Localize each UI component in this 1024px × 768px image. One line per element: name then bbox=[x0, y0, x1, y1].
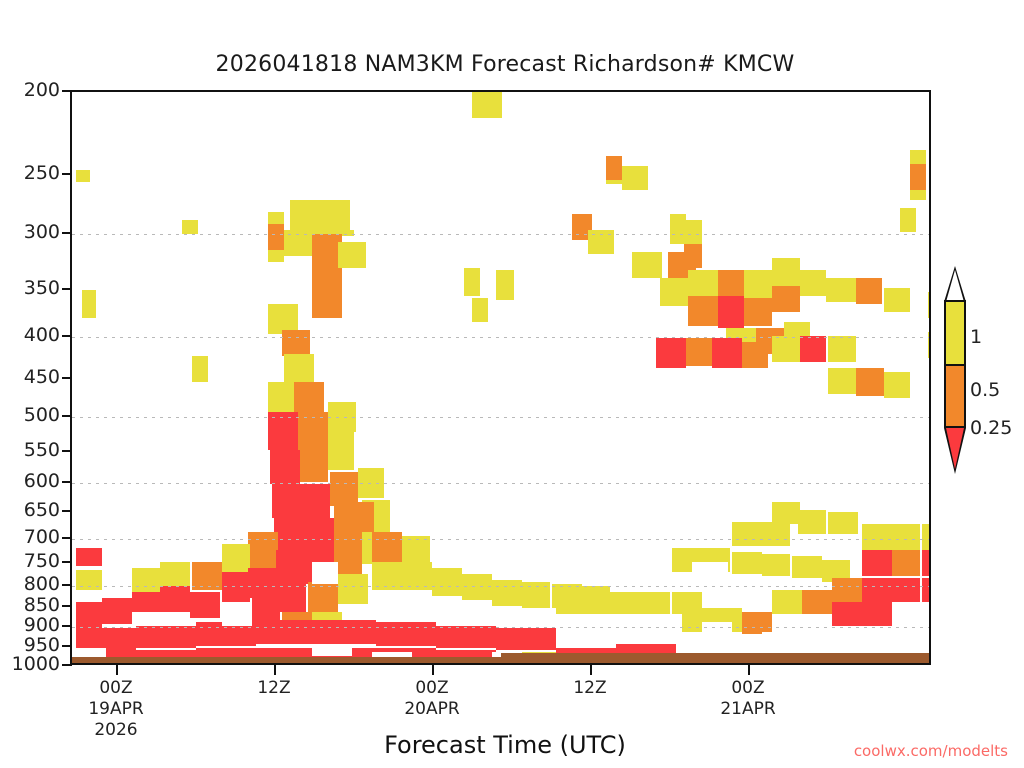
y-tick bbox=[62, 173, 72, 175]
heatmap-cell bbox=[302, 484, 330, 518]
y-tick-label: 750 bbox=[4, 550, 60, 572]
y-tick-label: 500 bbox=[4, 404, 60, 426]
y-tick-label: 450 bbox=[4, 366, 60, 388]
heatmap-cell bbox=[276, 550, 306, 584]
heatmap-cell bbox=[222, 572, 250, 602]
heatmap-cell bbox=[358, 468, 384, 498]
y-tick bbox=[62, 561, 72, 563]
heatmap-cell bbox=[800, 336, 826, 362]
x-tick-label: 12Z bbox=[204, 678, 344, 699]
heatmap-cell bbox=[922, 524, 931, 550]
heatmap-cell bbox=[328, 402, 356, 432]
heatmap-cell bbox=[762, 554, 790, 576]
heatmap-cell bbox=[338, 574, 368, 604]
heatmap-cell bbox=[832, 602, 862, 626]
y-tick-label: 700 bbox=[4, 526, 60, 548]
x-tick-label: 00Z 21APR bbox=[678, 678, 818, 720]
heatmap-cell bbox=[732, 522, 762, 546]
heatmap-cell bbox=[606, 156, 622, 180]
heatmap-cell bbox=[632, 562, 672, 588]
heatmap-cell bbox=[892, 578, 920, 602]
terrain-block-right bbox=[501, 653, 930, 665]
heatmap-cell bbox=[892, 524, 920, 550]
heatmap-cell bbox=[798, 510, 826, 534]
y-tick bbox=[62, 232, 72, 234]
heatmap-cell bbox=[910, 190, 926, 200]
heatmap-cell bbox=[922, 578, 931, 602]
y-tick-label: 400 bbox=[4, 324, 60, 346]
heatmap-cell bbox=[436, 626, 496, 648]
heatmap-cell bbox=[928, 332, 931, 358]
x-tick bbox=[748, 665, 750, 675]
heatmap-cell bbox=[670, 214, 686, 244]
heatmap-cell bbox=[772, 286, 800, 312]
y-tick-label: 200 bbox=[4, 79, 60, 101]
heatmap-cell bbox=[268, 382, 294, 412]
heatmap-cell bbox=[772, 336, 800, 362]
heatmap-cell bbox=[136, 626, 196, 648]
heatmap-cell bbox=[278, 582, 306, 612]
heatmap-cell bbox=[688, 270, 718, 296]
y-tick bbox=[62, 415, 72, 417]
heatmap-cell bbox=[732, 552, 762, 574]
heatmap-cell bbox=[192, 562, 222, 590]
heatmap-cell bbox=[828, 336, 856, 362]
colorbar-body bbox=[944, 300, 966, 428]
heatmap-cell bbox=[290, 200, 350, 234]
heatmap-cell bbox=[432, 568, 462, 596]
heatmap-cell bbox=[256, 620, 316, 644]
heatmap-cell bbox=[190, 592, 220, 618]
heatmap-cell bbox=[372, 562, 402, 590]
heatmap-cell bbox=[132, 612, 162, 626]
heatmap-cell bbox=[642, 592, 670, 614]
heatmap-cell bbox=[312, 562, 338, 584]
heatmap-cell bbox=[316, 620, 376, 644]
x-tick-label: 12Z bbox=[520, 678, 660, 699]
heatmap-cell bbox=[862, 550, 892, 576]
heatmap-cell bbox=[102, 598, 132, 624]
heatmap-cell bbox=[472, 298, 488, 322]
heatmap-cell bbox=[312, 648, 352, 656]
colorbar-segment-yellow bbox=[946, 302, 964, 364]
heatmap-cell bbox=[744, 298, 772, 326]
heatmap-cell bbox=[270, 450, 300, 484]
heatmap-cell bbox=[284, 354, 314, 384]
heatmap-cell bbox=[702, 622, 732, 644]
heatmap-cell bbox=[742, 612, 772, 634]
heatmap-cell bbox=[294, 382, 324, 412]
y-tick bbox=[62, 90, 72, 92]
heatmap-cell bbox=[826, 278, 856, 302]
y-tick-label: 1000 bbox=[4, 653, 60, 675]
heatmap-cell bbox=[622, 166, 648, 190]
y-tick bbox=[62, 625, 72, 627]
x-tick bbox=[590, 665, 592, 675]
heatmap-cell bbox=[910, 150, 926, 164]
heatmap-cell bbox=[922, 550, 931, 576]
heatmap-cell bbox=[282, 330, 310, 356]
heatmap-cell bbox=[328, 432, 354, 470]
heatmap-cell bbox=[464, 268, 480, 296]
y-tick bbox=[62, 288, 72, 290]
heatmap-cell bbox=[272, 484, 302, 518]
y-axis: 2002503003504004505005506006507007508008… bbox=[0, 0, 60, 768]
heatmap-cell bbox=[884, 288, 910, 312]
heatmap-cell bbox=[222, 544, 250, 572]
heatmap-cell bbox=[762, 522, 790, 546]
heatmap-cell bbox=[160, 586, 190, 612]
y-tick-label: 250 bbox=[4, 162, 60, 184]
heatmap-cell bbox=[862, 602, 892, 626]
x-tick-label: 00Z 20APR bbox=[362, 678, 502, 720]
heatmap-cell bbox=[606, 180, 622, 184]
heatmap-cell bbox=[802, 590, 832, 614]
chart-root: 2026041818 NAM3KM Forecast Richardson# K… bbox=[0, 0, 1024, 768]
heatmap-cell bbox=[268, 412, 298, 450]
heatmap-cell bbox=[496, 270, 514, 300]
colorbar-tick-label: 1 bbox=[970, 326, 982, 348]
heatmap-cell bbox=[304, 518, 334, 550]
heatmap-cell bbox=[862, 578, 892, 602]
heatmap-cell bbox=[268, 224, 284, 250]
heatmap-cell bbox=[248, 532, 278, 568]
y-tick bbox=[62, 584, 72, 586]
y-tick-label: 600 bbox=[4, 470, 60, 492]
chart-title: 2026041818 NAM3KM Forecast Richardson# K… bbox=[0, 52, 1010, 77]
heatmap-cells bbox=[72, 92, 929, 663]
heatmap-cell bbox=[402, 536, 430, 562]
y-tick bbox=[62, 481, 72, 483]
y-tick-label: 550 bbox=[4, 439, 60, 461]
heatmap-cell bbox=[632, 252, 662, 278]
heatmap-cell bbox=[884, 372, 910, 398]
heatmap-cell bbox=[892, 550, 920, 576]
heatmap-cell bbox=[588, 230, 614, 254]
y-tick bbox=[62, 510, 72, 512]
heatmap-cell bbox=[496, 628, 556, 650]
heatmap-cell bbox=[900, 208, 916, 232]
heatmap-cell bbox=[772, 590, 802, 614]
credit-text: coolwx.com/modelts bbox=[854, 742, 1008, 760]
y-tick-label: 650 bbox=[4, 499, 60, 521]
heatmap-cell bbox=[862, 524, 892, 550]
heatmap-cell bbox=[372, 532, 402, 562]
heatmap-cell bbox=[686, 338, 714, 366]
heatmap-cell bbox=[718, 270, 744, 296]
heatmap-cell bbox=[772, 258, 800, 286]
heatmap-cell bbox=[910, 164, 926, 190]
heatmap-cell bbox=[612, 592, 642, 614]
y-tick bbox=[62, 537, 72, 539]
heatmap-cell bbox=[762, 632, 802, 650]
heatmap-cell bbox=[330, 472, 358, 506]
heatmap-cell bbox=[492, 580, 522, 606]
heatmap-cell bbox=[800, 270, 826, 296]
heatmap-cell bbox=[856, 278, 882, 304]
heatmap-cell bbox=[82, 290, 96, 318]
heatmap-cell bbox=[268, 212, 284, 224]
heatmap-cell bbox=[312, 286, 342, 318]
heatmap-cell bbox=[402, 562, 432, 590]
heatmap-cell bbox=[688, 296, 718, 326]
heatmap-cell bbox=[712, 338, 742, 368]
x-tick bbox=[116, 665, 118, 675]
colorbar-tick-label: 0.5 bbox=[970, 379, 1000, 401]
colorbar-arrow-down-fill bbox=[946, 428, 964, 469]
y-tick-label: 900 bbox=[4, 614, 60, 636]
heatmap-cell bbox=[742, 342, 768, 368]
colorbar-segment-orange bbox=[946, 364, 964, 426]
heatmap-cell bbox=[928, 292, 931, 318]
heatmap-cell bbox=[772, 502, 800, 524]
heatmap-cell bbox=[222, 612, 252, 626]
heatmap-cell bbox=[182, 220, 198, 234]
y-tick bbox=[62, 377, 72, 379]
y-tick-label: 350 bbox=[4, 277, 60, 299]
heatmap-cell bbox=[76, 570, 102, 590]
heatmap-cell bbox=[76, 170, 90, 182]
heatmap-cell bbox=[334, 540, 362, 574]
heatmap-cell bbox=[300, 450, 328, 482]
heatmap-cell bbox=[344, 502, 374, 532]
y-tick bbox=[62, 335, 72, 337]
heatmap-cell bbox=[268, 250, 284, 262]
heatmap-cell bbox=[376, 622, 436, 646]
heatmap-cell bbox=[744, 270, 772, 300]
heatmap-cell bbox=[492, 612, 552, 626]
heatmap-cell bbox=[248, 568, 278, 598]
heatmap-cell bbox=[856, 368, 884, 396]
heatmap-cell bbox=[76, 602, 102, 628]
heatmap-cell bbox=[832, 578, 862, 602]
colorbar-divider-mid bbox=[946, 364, 964, 366]
heatmap-cell bbox=[586, 592, 616, 614]
heatmap-cell bbox=[298, 412, 328, 450]
heatmap-cell bbox=[660, 278, 688, 306]
y-tick-label: 300 bbox=[4, 221, 60, 243]
y-tick bbox=[62, 450, 72, 452]
heatmap-cell bbox=[828, 512, 858, 534]
heatmap-cell bbox=[338, 242, 366, 268]
y-tick bbox=[62, 664, 72, 666]
y-tick-label: 800 bbox=[4, 573, 60, 595]
heatmap-cell bbox=[462, 574, 492, 600]
heatmap-cell bbox=[656, 338, 686, 368]
heatmap-cell bbox=[160, 562, 190, 586]
heatmap-cell bbox=[192, 356, 208, 382]
heatmap-cell bbox=[556, 592, 586, 614]
heatmap-cell bbox=[274, 518, 304, 550]
y-tick bbox=[62, 605, 72, 607]
colorbar-arrow-up-fill bbox=[946, 270, 964, 302]
plot-area bbox=[70, 90, 931, 665]
heatmap-cell bbox=[308, 582, 338, 612]
heatmap-cell bbox=[732, 582, 766, 608]
heatmap-cell bbox=[76, 628, 136, 650]
heatmap-cell bbox=[828, 368, 856, 394]
x-tick bbox=[274, 665, 276, 675]
colorbar-tick-label: 0.25 bbox=[970, 417, 1012, 439]
heatmap-cell bbox=[592, 622, 642, 642]
heatmap-cell bbox=[792, 556, 822, 578]
heatmap-cell bbox=[718, 296, 744, 328]
heatmap-cell bbox=[76, 548, 102, 566]
x-tick bbox=[432, 665, 434, 675]
heatmap-cell bbox=[692, 562, 728, 586]
heatmap-cell bbox=[132, 568, 160, 592]
y-tick bbox=[62, 645, 72, 647]
y-tick-label: 850 bbox=[4, 594, 60, 616]
heatmap-cell bbox=[472, 92, 502, 118]
heatmap-cell bbox=[522, 582, 550, 608]
